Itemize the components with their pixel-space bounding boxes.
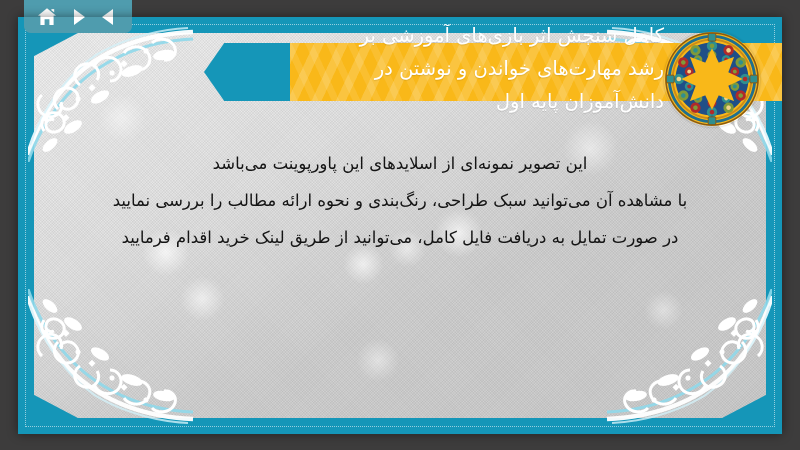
viewer-navigation-bar: [24, 0, 132, 33]
slide-canvas: کامل سنجش اثر بازی‌های آموزشی بر رشد مها…: [18, 17, 782, 434]
triangle-left-icon: [99, 7, 119, 27]
title-line-1: کامل سنجش اثر بازی‌های آموزشی بر: [204, 19, 664, 52]
title-line-3: دانش‌آموزان پایه اول: [204, 85, 664, 118]
slide-title: کامل سنجش اثر بازی‌های آموزشی بر رشد مها…: [204, 19, 664, 118]
home-icon: [36, 6, 58, 28]
presentation-viewer: کامل سنجش اثر بازی‌های آموزشی بر رشد مها…: [0, 0, 800, 450]
body-line-2: با مشاهده آن می‌توانید سبک طراحی، رنگ‌بن…: [54, 182, 746, 219]
persian-mandala-medallion: [664, 31, 760, 127]
triangle-right-icon: [68, 7, 88, 27]
home-button[interactable]: [34, 4, 60, 30]
title-line-2: رشد مهارت‌های خواندن و نوشتن در: [204, 52, 664, 85]
next-button[interactable]: [65, 4, 91, 30]
body-line-3: در صورت تمایل به دریافت فایل کامل، می‌تو…: [54, 219, 746, 256]
body-line-1: این تصویر نمونه‌ای از اسلایدهای این پاور…: [54, 145, 746, 182]
previous-button[interactable]: [96, 4, 122, 30]
slide-body-text: این تصویر نمونه‌ای از اسلایدهای این پاور…: [54, 145, 746, 256]
